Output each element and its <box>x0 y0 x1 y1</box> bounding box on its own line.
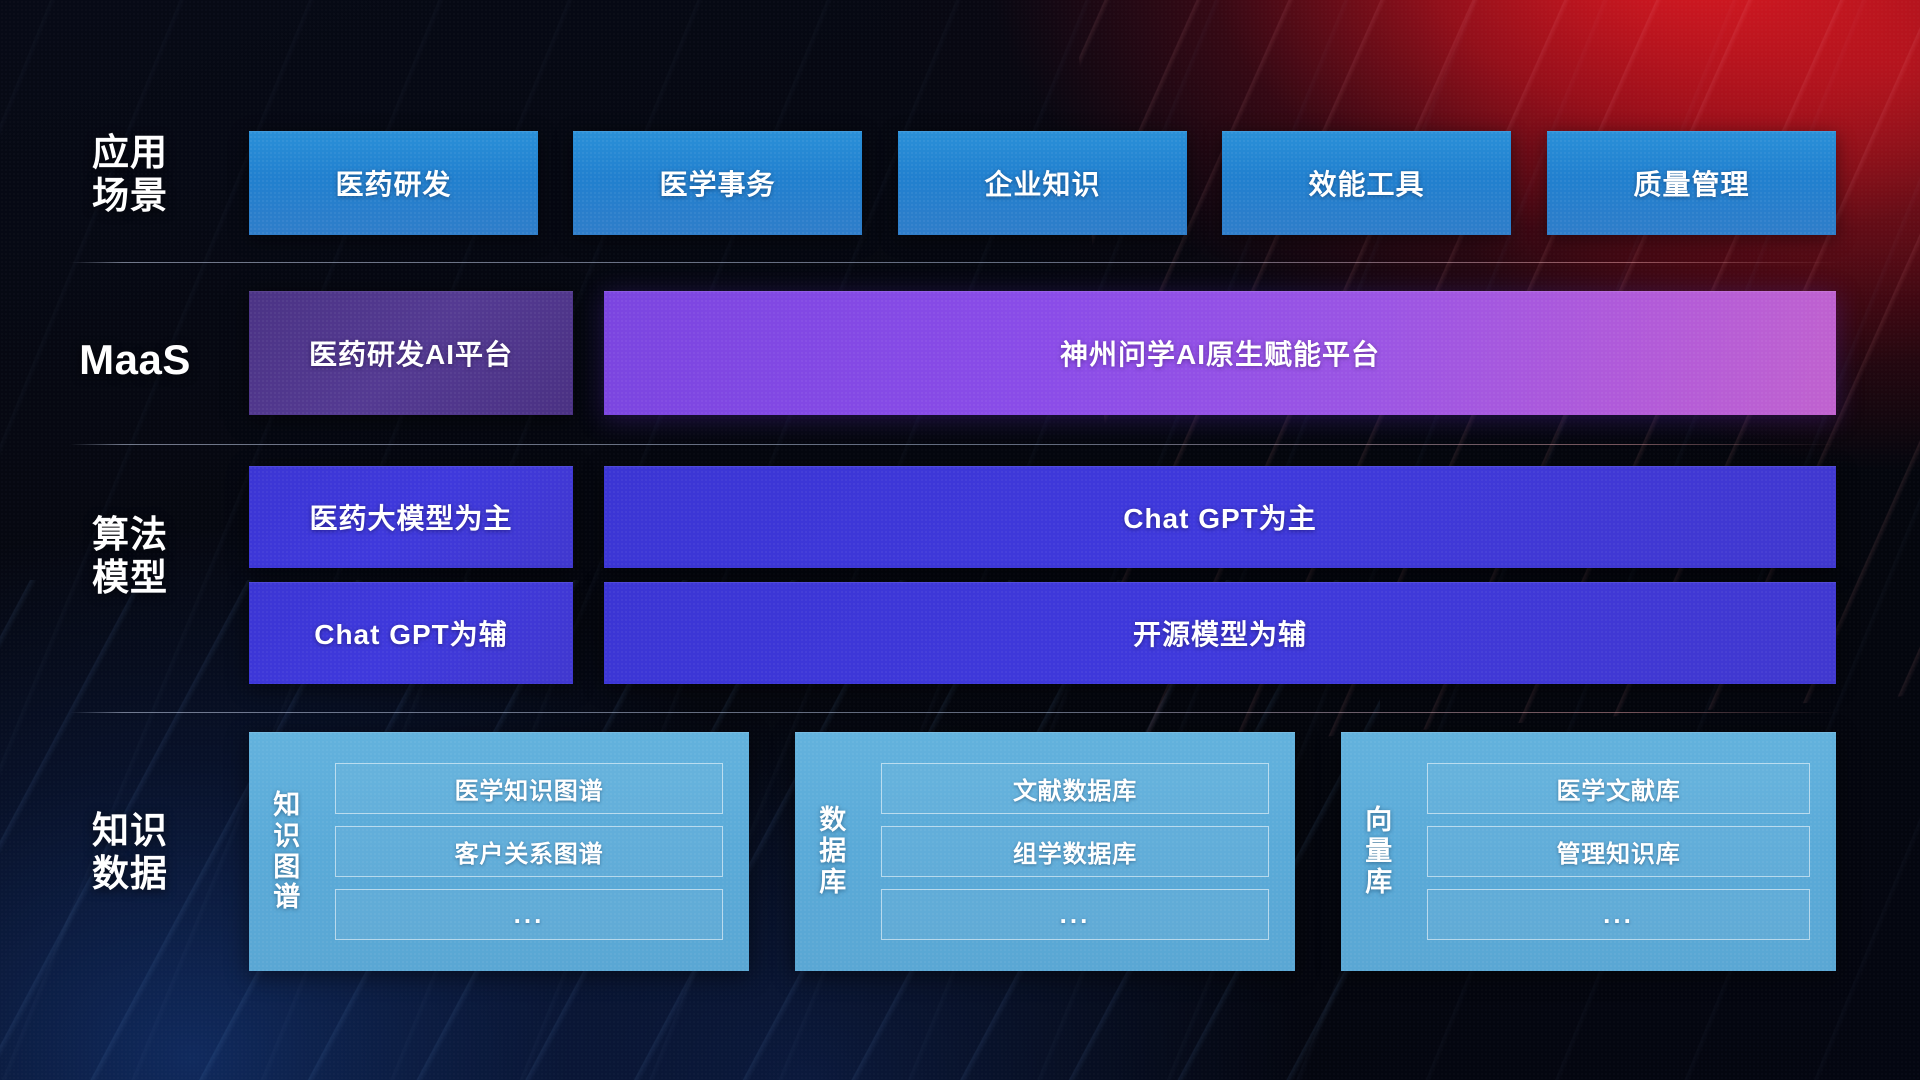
maas-box-label: 医药研发AI平台 <box>309 333 513 373</box>
knowledge-group-title-char-4: 谱 <box>273 882 301 913</box>
app-card-efficiency-tools[interactable]: 效能工具 <box>1222 131 1511 235</box>
algo-box-medicine-large-model-primary[interactable]: 医药大模型为主 <box>249 466 573 568</box>
knowledge-group-items: 医学文献库 管理知识库 ... <box>1417 732 1836 971</box>
knowledge-group-knowledge-graph[interactable]: 知 识 图 谱 医学知识图谱 客户关系图谱 ... <box>249 732 749 971</box>
algo-box-opensource-model-secondary[interactable]: 开源模型为辅 <box>604 582 1836 684</box>
app-card-label: 企业知识 <box>984 163 1100 203</box>
algo-box-label: Chat GPT为辅 <box>314 613 508 653</box>
app-card-label: 质量管理 <box>1633 163 1749 203</box>
knowledge-item[interactable]: 组学数据库 <box>881 826 1269 877</box>
knowledge-group-title-char-2: 量 <box>1365 836 1393 867</box>
app-card-label: 医药研发 <box>335 163 451 203</box>
knowledge-group-title: 数 据 库 <box>795 732 871 971</box>
knowledge-item-more[interactable]: ... <box>881 889 1269 940</box>
row-label-line-1: 算法 <box>70 514 190 557</box>
knowledge-item-more[interactable]: ... <box>335 889 723 940</box>
maas-box-shenzhou-wenxue-platform[interactable]: 神州问学AI原生赋能平台 <box>604 291 1836 415</box>
divider-after-application <box>70 262 1840 263</box>
knowledge-item-more[interactable]: ... <box>1427 889 1810 940</box>
app-card-label: 效能工具 <box>1308 163 1424 203</box>
algo-box-label: Chat GPT为主 <box>1123 497 1317 537</box>
knowledge-group-items: 文献数据库 组学数据库 ... <box>871 732 1295 971</box>
row-label-line-2: 数据 <box>70 853 190 896</box>
maas-box-medicine-rd-platform[interactable]: 医药研发AI平台 <box>249 291 573 415</box>
algo-box-chatgpt-secondary[interactable]: Chat GPT为辅 <box>249 582 573 684</box>
algo-box-chatgpt-primary[interactable]: Chat GPT为主 <box>604 466 1836 568</box>
divider-after-algorithm <box>70 712 1840 713</box>
row-label-line-2: 模型 <box>70 557 190 600</box>
knowledge-group-title-char-1: 向 <box>1365 805 1393 836</box>
app-card-label: 医学事务 <box>659 163 775 203</box>
row-label-maas: MaaS <box>70 336 200 385</box>
diagram-canvas: 应用 场景 医药研发 医学事务 企业知识 效能工具 质量管理 MaaS 医药研发… <box>0 0 1920 1080</box>
knowledge-group-title-char-1: 知 <box>273 790 301 821</box>
app-card-medicine-rd[interactable]: 医药研发 <box>249 131 538 235</box>
knowledge-item[interactable]: 客户关系图谱 <box>335 826 723 877</box>
knowledge-item[interactable]: 医学知识图谱 <box>335 763 723 814</box>
knowledge-group-title-char-3: 库 <box>819 867 847 898</box>
knowledge-group-title-char-3: 库 <box>1365 867 1393 898</box>
knowledge-item[interactable]: 医学文献库 <box>1427 763 1810 814</box>
row-label-line-2: 场景 <box>70 175 190 218</box>
knowledge-group-vector-store[interactable]: 向 量 库 医学文献库 管理知识库 ... <box>1341 732 1836 971</box>
knowledge-group-title: 知 识 图 谱 <box>249 732 325 971</box>
knowledge-item[interactable]: 管理知识库 <box>1427 826 1810 877</box>
row-label-line-1: 知识 <box>70 810 190 853</box>
knowledge-group-title-char-2: 识 <box>273 821 301 852</box>
knowledge-group-title-char-3: 图 <box>273 852 301 883</box>
knowledge-group-database[interactable]: 数 据 库 文献数据库 组学数据库 ... <box>795 732 1295 971</box>
row-label-algorithm-model: 算法 模型 <box>70 514 190 600</box>
row-label-line-1: MaaS <box>70 336 200 385</box>
maas-box-label: 神州问学AI原生赋能平台 <box>1060 333 1380 373</box>
app-card-medical-affairs[interactable]: 医学事务 <box>573 131 862 235</box>
row-label-knowledge-data: 知识 数据 <box>70 810 190 896</box>
knowledge-group-items: 医学知识图谱 客户关系图谱 ... <box>325 732 749 971</box>
knowledge-group-title: 向 量 库 <box>1341 732 1417 971</box>
algo-box-label: 开源模型为辅 <box>1133 613 1307 653</box>
row-label-line-1: 应用 <box>70 132 190 175</box>
algo-box-label: 医药大模型为主 <box>309 497 512 537</box>
knowledge-item[interactable]: 文献数据库 <box>881 763 1269 814</box>
app-card-enterprise-knowledge[interactable]: 企业知识 <box>898 131 1187 235</box>
row-label-application-scenario: 应用 场景 <box>70 132 190 218</box>
knowledge-group-title-char-2: 据 <box>819 836 847 867</box>
divider-after-maas <box>70 444 1840 445</box>
app-card-quality-management[interactable]: 质量管理 <box>1547 131 1836 235</box>
knowledge-group-title-char-1: 数 <box>819 805 847 836</box>
